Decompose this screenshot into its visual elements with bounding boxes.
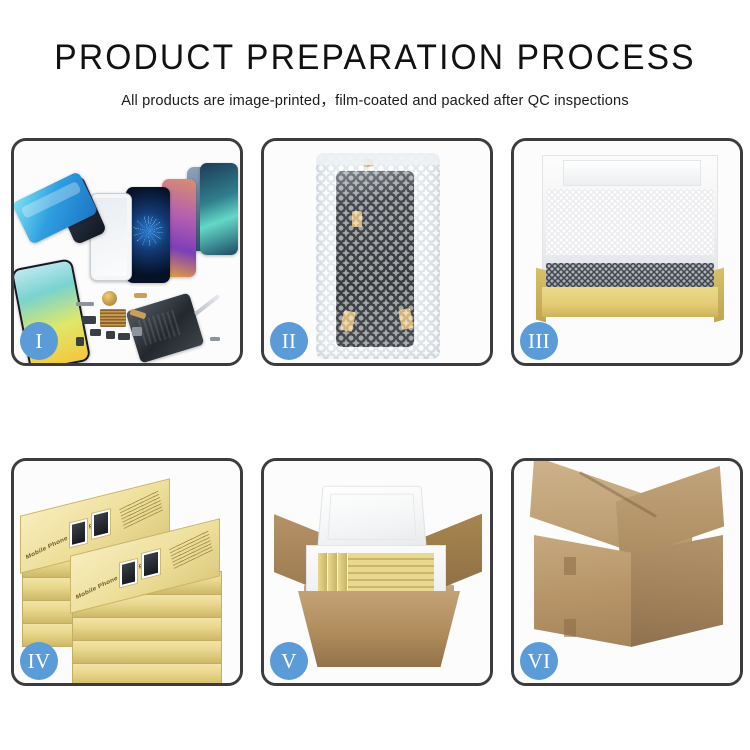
step-4-image: Mobile Phone Spare Parts Mobile Phone Sp… xyxy=(14,461,240,683)
box-window-1 xyxy=(119,558,138,589)
foam-lid-flap xyxy=(563,160,701,186)
box-spec-lines xyxy=(169,530,213,569)
step-1-image: I xyxy=(14,141,240,363)
box-window-2 xyxy=(141,548,161,580)
step-2-image: II xyxy=(264,141,490,363)
part-connector-2 xyxy=(90,329,101,336)
cardboard-carton-body xyxy=(298,591,460,667)
yellow-box-vertical xyxy=(318,553,327,593)
process-step-panel-4: Mobile Phone Spare Parts Mobile Phone Sp… xyxy=(11,458,243,686)
process-step-panel-1: I xyxy=(11,138,243,366)
carton-side-face xyxy=(631,535,723,647)
foam-cooler-lid xyxy=(317,486,427,550)
process-step-grid: I II III xyxy=(11,138,741,686)
yellow-box-vertical xyxy=(338,553,347,593)
packed-bubble-contents xyxy=(546,263,714,289)
yellow-box-front xyxy=(542,287,718,317)
packed-yellow-boxes xyxy=(318,553,434,593)
stacked-box-edge xyxy=(72,640,222,664)
part-camera-module xyxy=(118,333,130,340)
stacked-box-edge xyxy=(72,663,222,686)
part-bracket xyxy=(132,327,142,336)
part-logic-board xyxy=(100,309,126,327)
part-button-set xyxy=(106,331,115,339)
step-badge-3: III xyxy=(520,322,558,360)
part-gold-coil xyxy=(102,291,117,306)
step-badge-2: II xyxy=(270,322,308,360)
box-window-2 xyxy=(91,508,111,540)
step-badge-1: I xyxy=(20,322,58,360)
step-6-image: VI xyxy=(514,461,740,683)
step-badge-5: V xyxy=(270,642,308,680)
carton-front-face xyxy=(534,535,632,647)
phone-teal-swirl xyxy=(200,163,238,255)
bag-seal xyxy=(316,153,440,165)
carton-tape-lower xyxy=(564,619,576,637)
box-window-1 xyxy=(69,518,88,549)
yellow-box-vertical xyxy=(328,553,337,593)
phone-dark-blue-screen xyxy=(126,187,170,283)
bubble-texture-overlay xyxy=(316,153,440,359)
yellow-box-stack-horizontal xyxy=(348,553,434,593)
step-3-image: III xyxy=(514,141,740,363)
white-foam-sheet xyxy=(546,189,714,255)
tweezers-icon xyxy=(194,294,220,316)
process-step-panel-3: III xyxy=(511,138,743,366)
process-step-panel-5: V xyxy=(261,458,493,686)
page-title: PRODUCT PREPARATION PROCESS xyxy=(15,0,735,75)
part-connector-1 xyxy=(82,316,96,324)
process-step-panel-6: VI xyxy=(511,458,743,686)
step-5-image: V xyxy=(264,461,490,683)
box-spec-lines xyxy=(119,490,163,529)
part-flex-cable-1 xyxy=(134,293,147,298)
bubble-wrap-bag xyxy=(316,153,440,359)
step-badge-4: IV xyxy=(20,642,58,680)
step-badge-6: VI xyxy=(520,642,558,680)
stacked-box-edge xyxy=(72,617,222,641)
page-header: PRODUCT PREPARATION PROCESS All products… xyxy=(0,0,750,110)
part-screw-set xyxy=(210,337,220,341)
part-grey-bar xyxy=(76,302,94,306)
process-step-panel-2: II xyxy=(261,138,493,366)
page-subtitle: All products are image-printed，film-coat… xyxy=(0,75,750,110)
part-speaker xyxy=(76,337,84,346)
carton-tape-upper xyxy=(564,557,576,575)
